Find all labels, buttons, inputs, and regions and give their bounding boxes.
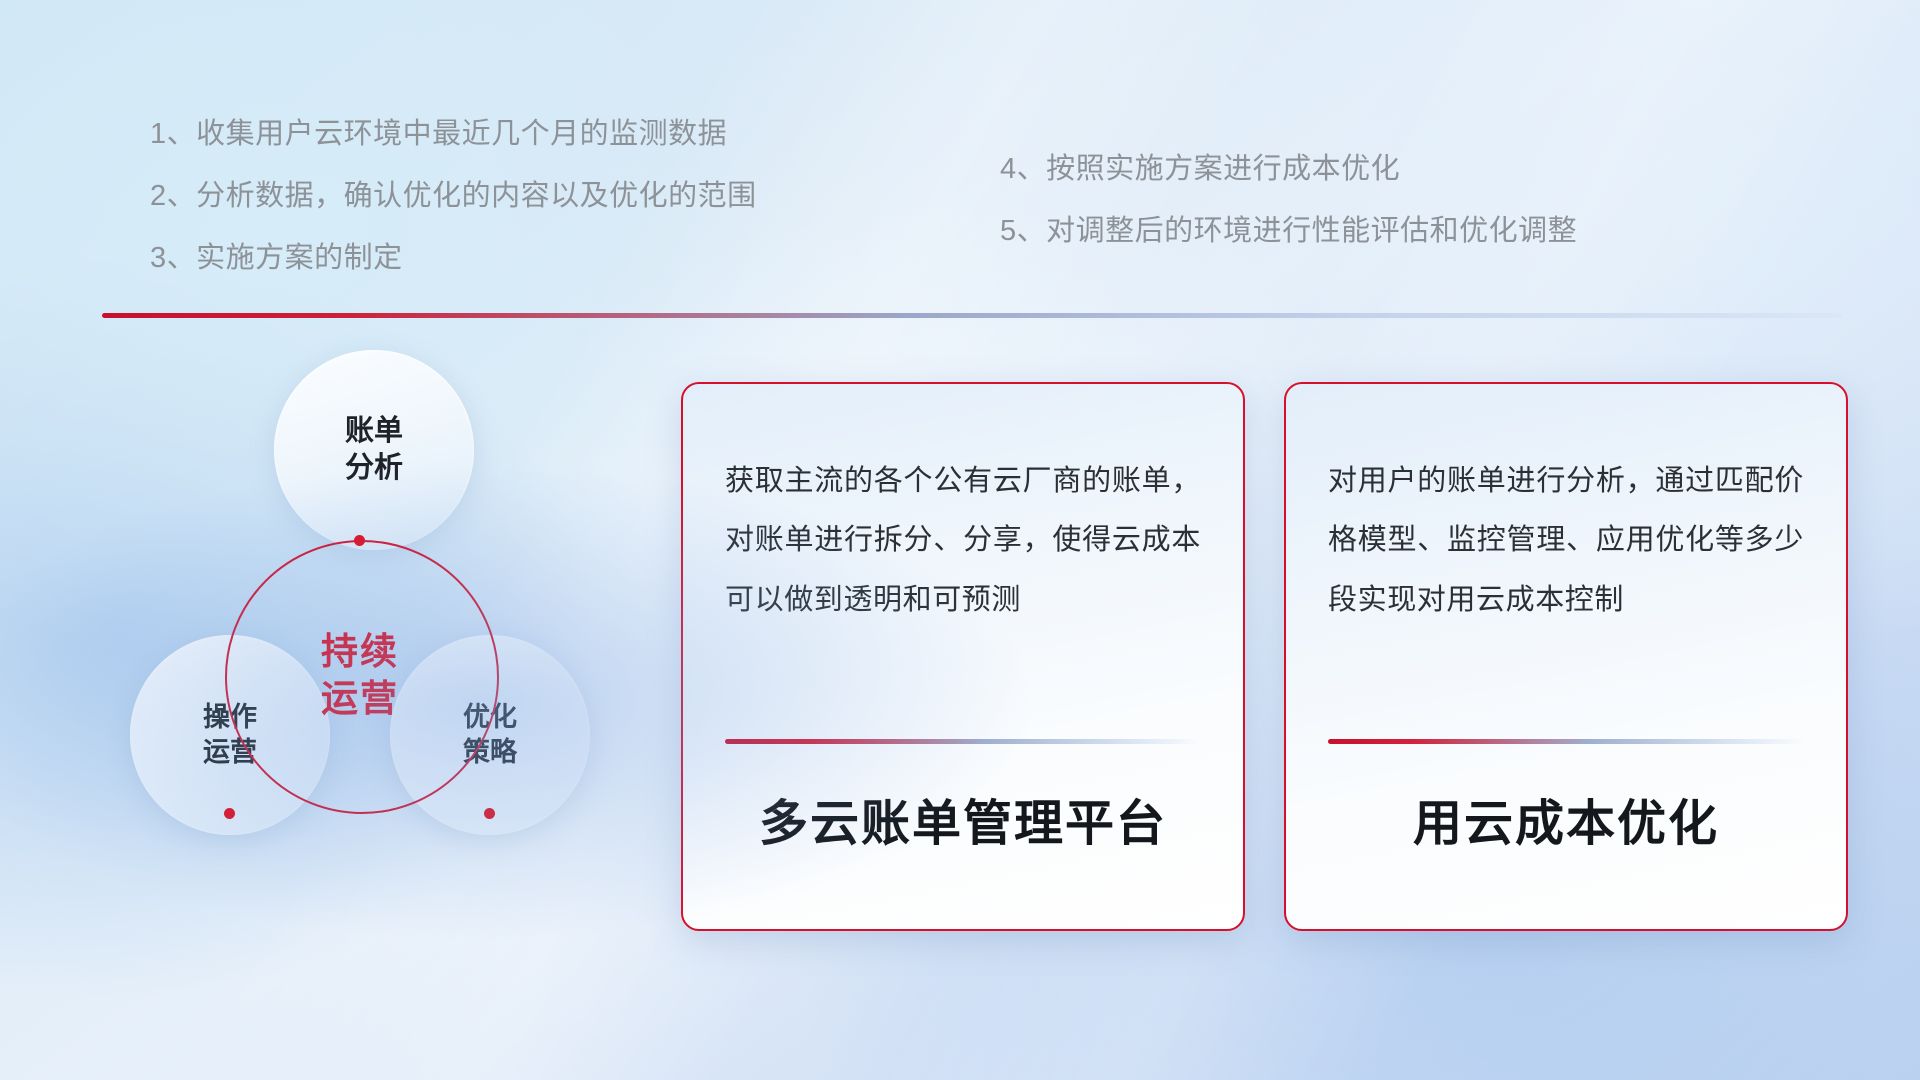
bullet-item: 4、按照实施方案进行成本优化 — [1000, 155, 1577, 184]
venn-diagram: 账单分析 操作运营 优化策略 持续运营 — [100, 350, 620, 950]
card-description: 对用户的账单进行分析，通过匹配价格模型、监控管理、应用优化等多少段实现对用云成本… — [1328, 452, 1804, 630]
venn-node-billing-analysis[interactable]: 账单分析 — [274, 350, 474, 550]
venn-center-label: 持续运营 — [225, 540, 495, 810]
connector-dot-left-icon — [224, 808, 235, 819]
bullet-list-left: 1、收集用户云环境中最近几个月的监测数据 2、分析数据，确认优化的内容以及优化的… — [150, 120, 757, 273]
bullet-list-right: 4、按照实施方案进行成本优化 5、对调整后的环境进行性能评估和优化调整 — [1000, 155, 1577, 246]
section-divider-rule — [102, 313, 1842, 318]
bullet-item: 2、分析数据，确认优化的内容以及优化的范围 — [150, 182, 757, 211]
card-accent-rule — [725, 739, 1201, 744]
bullet-item: 5、对调整后的环境进行性能评估和优化调整 — [1000, 217, 1577, 246]
card-description: 获取主流的各个公有云厂商的账单，对账单进行拆分、分享，使得云成本可以做到透明和可… — [725, 452, 1201, 630]
venn-center-text: 持续运营 — [321, 628, 399, 723]
bullet-item: 1、收集用户云环境中最近几个月的监测数据 — [150, 120, 757, 149]
card-title: 多云账单管理平台 — [683, 784, 1243, 855]
venn-node-label: 账单分析 — [345, 413, 403, 487]
card-title: 用云成本优化 — [1286, 784, 1846, 855]
connector-dot-right-icon — [484, 808, 495, 819]
connector-dot-top-icon — [354, 535, 365, 546]
feature-card-cloud-cost-optimization[interactable]: 对用户的账单进行分析，通过匹配价格模型、监控管理、应用优化等多少段实现对用云成本… — [1284, 382, 1848, 931]
slide-canvas: 1、收集用户云环境中最近几个月的监测数据 2、分析数据，确认优化的内容以及优化的… — [0, 0, 1920, 1080]
feature-card-multi-cloud-billing[interactable]: 获取主流的各个公有云厂商的账单，对账单进行拆分、分享，使得云成本可以做到透明和可… — [681, 382, 1245, 931]
bullet-item: 3、实施方案的制定 — [150, 244, 757, 273]
card-accent-rule — [1328, 739, 1804, 744]
